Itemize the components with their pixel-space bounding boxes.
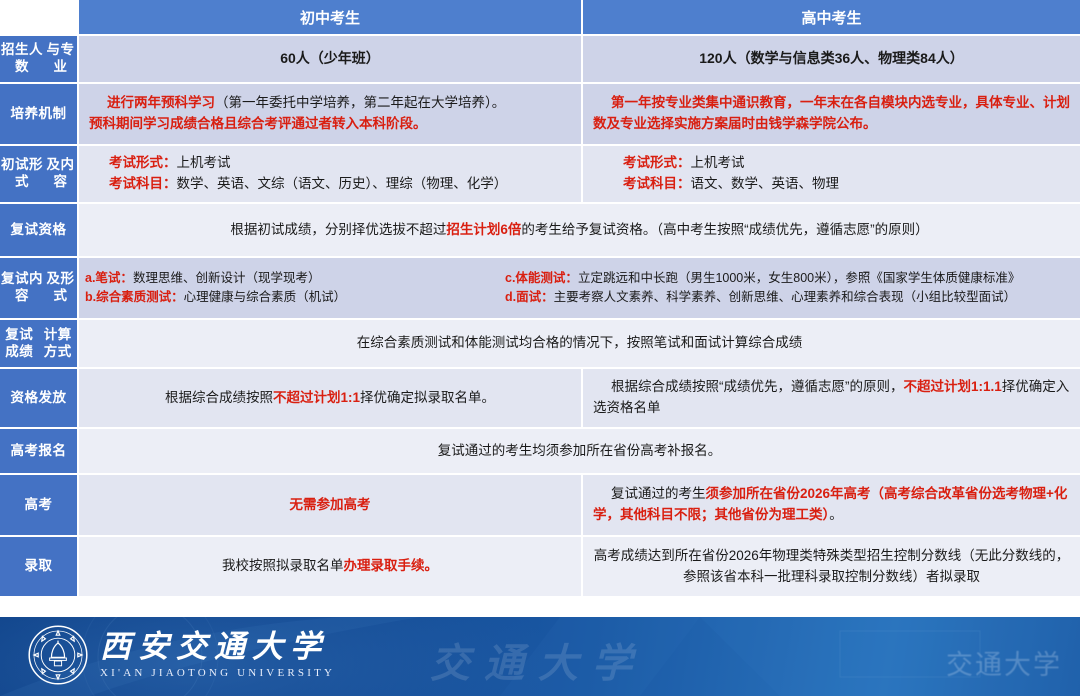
cell-enrollment-senior: 120人（数学与信息类36人、物理类84人） [583,36,1080,83]
row-label-score-method-l2: 计算方式 [39,327,78,361]
table-row-gaokao-signup: 高考报名 复试通过的考生均须参加所在省份高考补报名。 [0,429,1080,475]
first-exam-junior-subjects: 考试科目：数学、英语、文综（语文、历史）、理综（物理、化学） [89,174,571,195]
qualify-junior-highlight: 不超过计划1:1 [273,390,360,405]
university-seal-icon [28,625,88,685]
table-row-qualify-issue: 资格发放 根据综合成绩按照不超过计划1:1择优确定拟录取名单。 根据综合成绩按照… [0,369,1080,429]
cell-first-exam-senior: 考试形式：上机考试 考试科目：语文、数学、英语、物理 [583,146,1080,203]
retest-item-c-tag: c.体能测试： [505,271,578,285]
table-row-first-exam: 初试形式 及内容 考试形式：上机考试 考试科目：数学、英语、文综（语文、历史）、… [0,146,1080,204]
row-label-enrollment: 招生人数 与专业 [0,36,79,83]
qualify-senior-highlight: 不超过计划1:1.1 [904,379,1002,394]
university-name-cn: 西安交通大学 [100,631,335,662]
gaokao-senior-p1: 复试通过的考生 [611,486,706,501]
retest-item-b: b.综合素质测试：心理健康与综合素质（机试） [85,288,505,307]
qualify-junior-p3: 择优确定拟录取名单。 [360,390,495,405]
first-exam-senior-subj-value: 语文、数学、英语、物理 [691,176,840,191]
retest-item-b-text: 心理健康与综合素质（机试） [184,290,347,304]
row-label-training: 培养机制 [0,84,79,145]
table-row-retest-qualify: 复试资格 根据初试成绩，分别择优选拔不超过招生计划6倍的考生给予复试资格。（高中… [0,204,1080,258]
training-junior-line1: 进行两年预科学习（第一年委托中学培养，第二年起在大学培养）。 [89,93,571,114]
qualify-issue-senior-text: 根据综合成绩按照“成绩优先，遵循志愿”的原则，不超过计划1:1.1择优确定入选资… [593,377,1070,419]
cell-admission-senior: 高考成绩达到所在省份2026年物理类特殊类型招生控制分数线（无此分数线的，参照该… [583,537,1080,597]
row-label-admission: 录取 [0,537,79,597]
row-label-retest-content-l1: 复试内容 [0,271,44,305]
row-label-first-exam: 初试形式 及内容 [0,146,79,203]
header-corner-blank [0,0,79,35]
cell-retest-qualify: 根据初试成绩，分别择优选拔不超过招生计划6倍的考生给予复试资格。（高中考生按照“… [79,204,1080,257]
first-exam-senior-form: 考试形式：上机考试 [593,153,1070,174]
retest-qualify-text: 根据初试成绩，分别择优选拔不超过招生计划6倍的考生给予复试资格。（高中考生按照“… [230,220,928,241]
retest-qualify-highlight: 招生计划6倍 [446,222,521,237]
row-label-gaokao: 高考 [0,475,79,536]
cell-admission-junior: 我校按照拟录取名单办理录取手续。 [79,537,583,597]
first-exam-senior-subjects: 考试科目：语文、数学、英语、物理 [593,174,1070,195]
retest-item-d: d.面试：主要考察人文素养、科学素养、创新思维、心理素养和综合表现（小组比较型面… [505,288,1074,307]
retest-item-c-text: 立定跳远和中长跑（男生1000米，女生800米），参照《国家学生体质健康标准》 [578,271,1020,285]
cell-gaokao-junior: 无需参加高考 [79,475,583,536]
qualify-junior-p1: 根据综合成绩按照 [165,390,273,405]
admission-junior-text: 我校按照拟录取名单办理录取手续。 [222,556,438,577]
row-label-enrollment-l2: 与专业 [44,42,77,76]
retest-content-col-left: a.笔试：数理思维、创新设计（现学现考） b.综合素质测试：心理健康与综合素质（… [85,269,505,308]
qualify-issue-junior-text: 根据综合成绩按照不超过计划1:1择优确定拟录取名单。 [165,388,495,409]
table-row-enrollment: 招生人数 与专业 60人（少年班） 120人（数学与信息类36人、物理类84人） [0,36,1080,84]
training-junior-highlight: 进行两年预科学习 [107,95,215,110]
retest-item-a-tag: a.笔试： [85,271,133,285]
training-junior-rest: （第一年委托中学培养，第二年起在大学培养）。 [215,95,505,110]
admission-junior-highlight: 办理录取手续。 [344,558,439,573]
footer-watermark-right: 交通大学 [946,643,1062,682]
footer-watermark-cn: 交通大学 [430,631,646,689]
row-label-score-method-l1: 复试成绩 [0,327,39,361]
retest-item-a: a.笔试：数理思维、创新设计（现学现考） [85,269,505,288]
table-row-retest-content: 复试内容 及形式 a.笔试：数理思维、创新设计（现学现考） b.综合素质测试：心… [0,258,1080,320]
row-label-retest-qualify: 复试资格 [0,204,79,257]
training-junior-line2: 预科期间学习成绩合格且综合考评通过者转入本科阶段。 [89,114,571,135]
retest-item-b-tag: b.综合素质测试： [85,290,184,304]
row-label-qualify-issue: 资格发放 [0,369,79,428]
row-label-first-exam-l2: 及内容 [44,157,77,191]
cell-qualify-issue-senior: 根据综合成绩按照“成绩优先，遵循志愿”的原则，不超过计划1:1.1择优确定入选资… [583,369,1080,428]
university-name-en: XI'AN JIAOTONG UNIVERSITY [100,667,335,679]
first-exam-junior-subj-label: 考试科目： [109,176,177,191]
first-exam-junior-subj-value: 数学、英语、文综（语文、历史）、理综（物理、化学） [177,176,508,191]
table-row-admission: 录取 我校按照拟录取名单办理录取手续。 高考成绩达到所在省份2026年物理类特殊… [0,537,1080,597]
cell-training-senior: 第一年按专业类集中通识教育，一年末在各自模块内选专业，具体专业、计划数及专业选择… [583,84,1080,145]
cell-first-exam-junior: 考试形式：上机考试 考试科目：数学、英语、文综（语文、历史）、理综（物理、化学） [79,146,583,203]
first-exam-senior-subj-label: 考试科目： [623,176,691,191]
admission-senior-text: 高考成绩达到所在省份2026年物理类特殊类型招生控制分数线（无此分数线的，参照该… [593,546,1070,588]
retest-qualify-p3: 的考生给予复试资格。（高中考生按照“成绩优先，遵循志愿”的原则） [521,222,928,237]
cell-enrollment-junior: 60人（少年班） [79,36,583,83]
admissions-comparison-table: 初中考生 高中考生 招生人数 与专业 60人（少年班） 120人（数学与信息类3… [0,0,1080,617]
first-exam-junior-form-value: 上机考试 [177,155,231,170]
table-row-training: 培养机制 进行两年预科学习（第一年委托中学培养，第二年起在大学培养）。 预科期间… [0,84,1080,146]
retest-item-c: c.体能测试：立定跳远和中长跑（男生1000米，女生800米），参照《国家学生体… [505,269,1074,288]
table-row-gaokao: 高考 无需参加高考 复试通过的考生须参加所在省份2026年高考（高考综合改革省份… [0,475,1080,537]
table-row-score-method: 复试成绩 计算方式 在综合素质测试和体能测试均合格的情况下，按照笔试和面试计算综… [0,320,1080,369]
retest-item-d-tag: d.面试： [505,290,554,304]
cell-training-junior: 进行两年预科学习（第一年委托中学培养，第二年起在大学培养）。 预科期间学习成绩合… [79,84,583,145]
footer-banner: 西安交通大学 XI'AN JIAOTONG UNIVERSITY 交通大学 交通… [0,617,1080,696]
cell-retest-content: a.笔试：数理思维、创新设计（现学现考） b.综合素质测试：心理健康与综合素质（… [79,258,1080,319]
gaokao-senior-p3: 。 [829,507,843,522]
row-label-score-method: 复试成绩 计算方式 [0,320,79,368]
row-label-retest-content-l2: 及形式 [44,271,77,305]
column-header-junior-high: 初中考生 [79,0,583,35]
cell-score-method: 在综合素质测试和体能测试均合格的情况下，按照笔试和面试计算综合成绩 [79,320,1080,368]
row-label-first-exam-l1: 初试形式 [0,157,44,191]
first-exam-senior-form-label: 考试形式： [623,155,691,170]
first-exam-junior-form: 考试形式：上机考试 [89,153,571,174]
admission-junior-p1: 我校按照拟录取名单 [222,558,344,573]
retest-item-a-text: 数理思维、创新设计（现学现考） [133,271,321,285]
university-logo: 西安交通大学 XI'AN JIAOTONG UNIVERSITY [28,625,335,685]
first-exam-junior-form-label: 考试形式： [109,155,177,170]
gaokao-junior-text: 无需参加高考 [290,495,371,516]
row-label-gaokao-signup: 高考报名 [0,429,79,474]
table-header-row: 初中考生 高中考生 [0,0,1080,36]
cell-gaokao-signup: 复试通过的考生均须参加所在省份高考补报名。 [79,429,1080,474]
qualify-senior-p1: 根据综合成绩按照“成绩优先，遵循志愿”的原则， [611,379,904,394]
gaokao-senior-text: 复试通过的考生须参加所在省份2026年高考（高考综合改革省份选考物理+化学，其他… [593,484,1070,526]
cell-gaokao-senior: 复试通过的考生须参加所在省份2026年高考（高考综合改革省份选考物理+化学，其他… [583,475,1080,536]
column-header-senior-high: 高中考生 [583,0,1080,35]
row-label-enrollment-l1: 招生人数 [0,42,44,76]
retest-qualify-p1: 根据初试成绩，分别择优选拔不超过 [230,222,446,237]
cell-qualify-issue-junior: 根据综合成绩按照不超过计划1:1择优确定拟录取名单。 [79,369,583,428]
row-label-retest-content: 复试内容 及形式 [0,258,79,319]
first-exam-senior-form-value: 上机考试 [691,155,745,170]
retest-content-col-right: c.体能测试：立定跳远和中长跑（男生1000米，女生800米），参照《国家学生体… [505,269,1074,308]
retest-item-d-text: 主要考察人文素养、科学素养、创新思维、心理素养和综合表现（小组比较型面试） [554,290,1017,304]
training-senior-text: 第一年按专业类集中通识教育，一年末在各自模块内选专业，具体专业、计划数及专业选择… [593,93,1070,135]
